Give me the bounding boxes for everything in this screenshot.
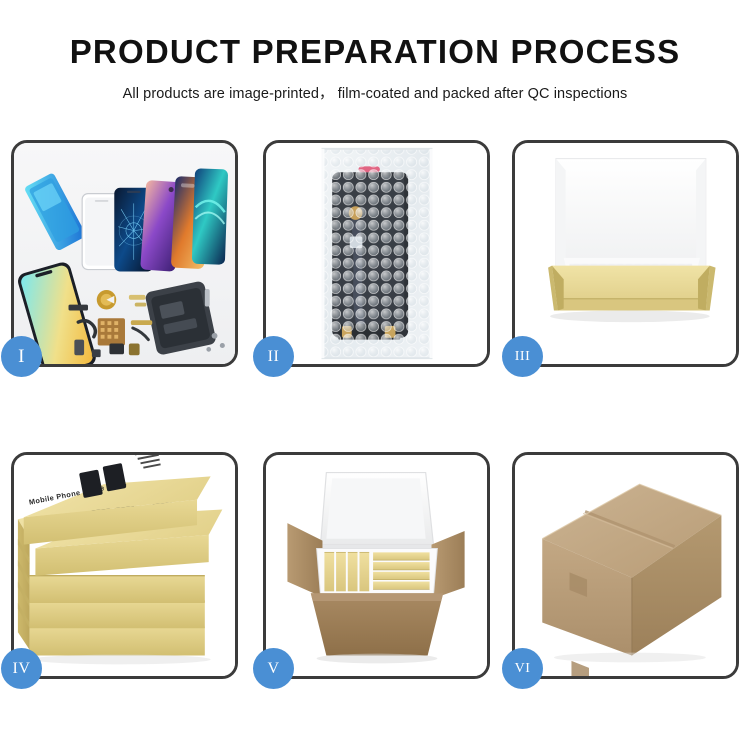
step-photo-bubble-wrapped-screen [266, 143, 487, 364]
step-badge-6: VI [502, 648, 543, 689]
step-photo-phone-parts [14, 143, 235, 364]
step-panel-1: I [11, 140, 238, 367]
step-panel-5: V [263, 452, 490, 679]
product-preparation-infographic: PRODUCT PREPARATION PROCESS All products… [0, 0, 750, 750]
step-panel-3: III [512, 140, 739, 367]
page-title: PRODUCT PREPARATION PROCESS [0, 34, 750, 70]
steps-grid: I [11, 140, 739, 680]
step-photo-carton-with-foam-insert [266, 455, 487, 676]
header: PRODUCT PREPARATION PROCESS All products… [0, 0, 750, 103]
step-badge-1: I [1, 336, 42, 377]
step-panel-4: Mobile Phone Spare Parts Mobile Phon [11, 452, 238, 679]
page-subtitle: All products are image-printed， film-coa… [0, 82, 750, 103]
step-photo-sealed-shipping-carton [515, 455, 736, 676]
step-badge-2: II [253, 336, 294, 377]
step-photo-inner-box-foam [515, 143, 736, 364]
step-photo-stacked-retail-boxes: Mobile Phone Spare Parts Mobile Phon [14, 455, 235, 676]
step-badge-4: IV [1, 648, 42, 689]
step-badge-5: V [253, 648, 294, 689]
step-panel-6: VI [512, 452, 739, 679]
step-badge-3: III [502, 336, 543, 377]
step-panel-2: II [263, 140, 490, 367]
